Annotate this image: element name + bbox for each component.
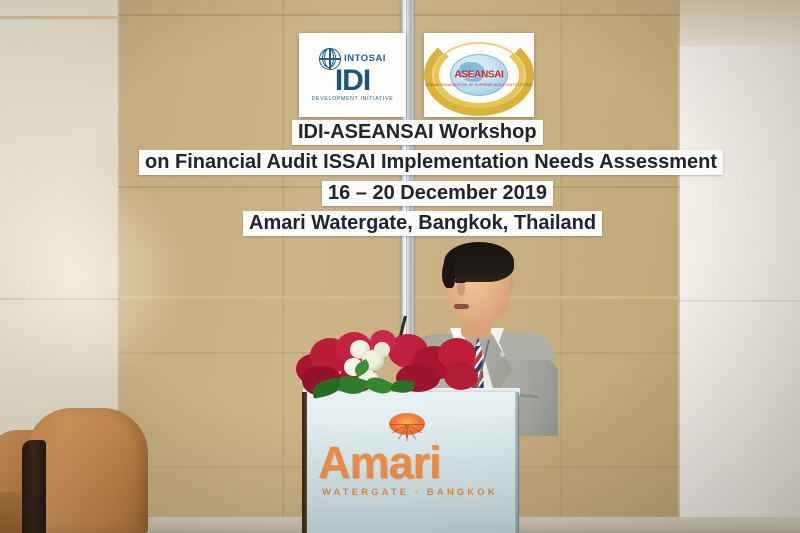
- idi-intosai-text: INTOSAI: [344, 53, 386, 64]
- banner-date-line: 16 – 20 December 2019: [322, 181, 553, 206]
- aseansai-sub-text: ASEAN ORGANIZATION OF SUPREME AUDIT INST…: [426, 83, 532, 87]
- globe-icon: [319, 48, 341, 70]
- amari-tagline-text: WATERGATE · BANGKOK: [322, 487, 498, 498]
- photo-scene: INTOSAI IDI DEVELOPMENT INITIATIVE ASEAN…: [0, 0, 800, 533]
- idi-logo-board: INTOSAI IDI DEVELOPMENT INITIATIVE: [299, 33, 406, 117]
- chair-armrest: [22, 440, 46, 533]
- hair-sideburn: [442, 258, 455, 288]
- podium-edge-left: [302, 392, 307, 533]
- wall-seam-vertical: [282, 0, 284, 533]
- banner-venue-line: Amari Watergate, Bangkok, Thailand: [243, 211, 602, 236]
- amari-brand-text: Amari: [318, 437, 441, 489]
- wall-seam-horizontal: [0, 298, 120, 300]
- idi-sub-text: DEVELOPMENT INITIATIVE: [312, 96, 394, 102]
- aseansai-main-text: ASEANSAI: [454, 70, 503, 81]
- podium-edge-right: [515, 392, 519, 533]
- parasol-icon: [389, 413, 425, 439]
- wall-seam-horizontal: [0, 16, 120, 19]
- mouth: [454, 304, 469, 309]
- wall-panel-right: [678, 0, 800, 533]
- floral-arrangement: [296, 328, 478, 398]
- banner-title-line-1: IDI-ASEANSAI Workshop: [292, 120, 543, 145]
- wall-seam-horizontal: [678, 300, 800, 302]
- nose: [457, 283, 465, 296]
- idi-main-text: IDI: [335, 68, 370, 94]
- wall-panel-right-top: [678, 0, 800, 46]
- aseansai-logo-board: ASEANSAI ASEAN ORGANIZATION OF SUPREME A…: [424, 33, 534, 117]
- wall-seam-horizontal: [118, 14, 680, 16]
- lapel-pin: [500, 352, 505, 357]
- banner-title-line-2: on Financial Audit ISSAI Implementation …: [139, 150, 723, 175]
- wall-seam-vertical: [678, 0, 680, 533]
